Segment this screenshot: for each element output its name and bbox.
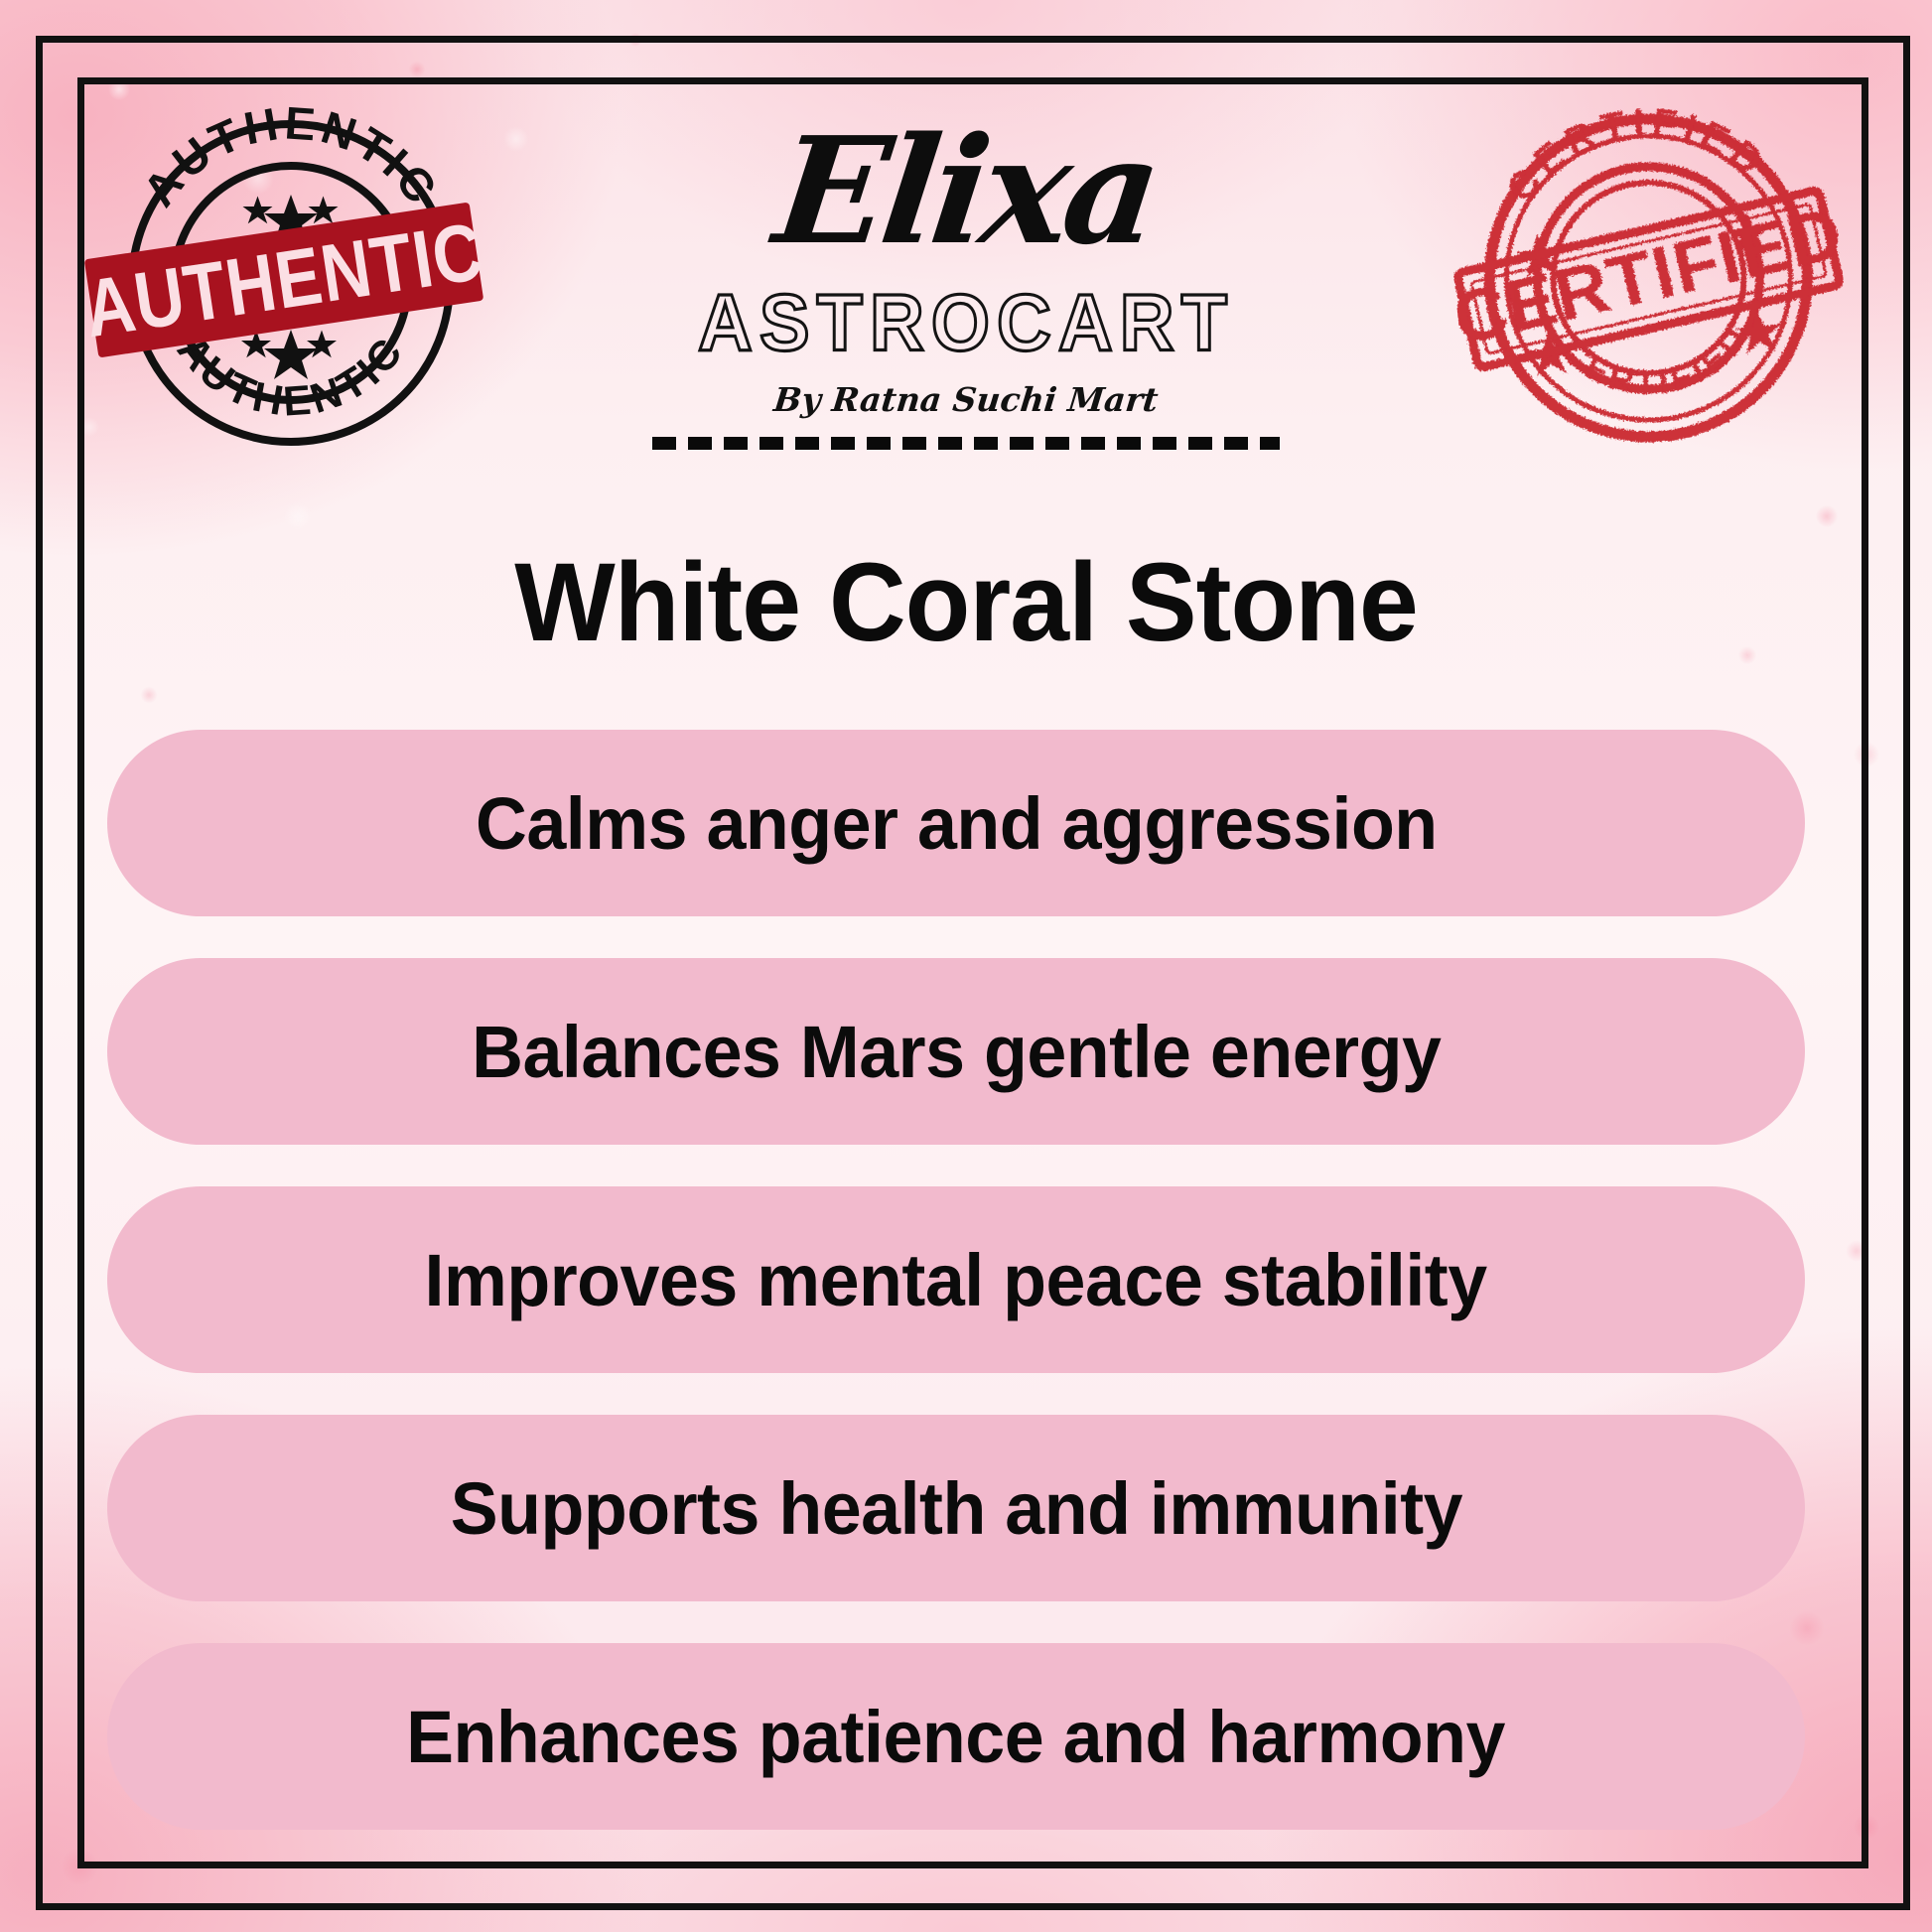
benefit-text: Calms anger and aggression: [476, 781, 1438, 866]
benefit-text: Enhances patience and harmony: [407, 1695, 1506, 1779]
benefit-pill: Balances Mars gentle energy: [107, 958, 1805, 1145]
poster-canvas: AUTHENTIC AUTHENTIC AUTHENTIC: [0, 0, 1932, 1932]
brand-wordmark: ASTROCART: [0, 277, 1932, 368]
product-title: White Coral Stone: [39, 544, 1893, 661]
benefit-text: Improves mental peace stability: [425, 1238, 1487, 1322]
benefit-pill: Calms anger and aggression: [107, 730, 1805, 916]
dashed-divider: [652, 437, 1280, 450]
brand-byline: By Ratna Suchi Mart: [0, 380, 1932, 419]
brand-script-name: Elixa: [768, 117, 1164, 264]
benefit-pill: Improves mental peace stability: [107, 1186, 1805, 1373]
benefit-pill: Enhances patience and harmony: [107, 1643, 1805, 1830]
benefit-pill: Supports health and immunity: [107, 1415, 1805, 1601]
benefit-text: Supports health and immunity: [450, 1466, 1461, 1551]
benefit-list: Calms anger and aggression Balances Mars…: [107, 730, 1805, 1830]
benefit-text: Balances Mars gentle energy: [472, 1010, 1441, 1094]
brand-logo: Elixa ASTROCART By Ratna Suchi Mart: [0, 117, 1932, 450]
